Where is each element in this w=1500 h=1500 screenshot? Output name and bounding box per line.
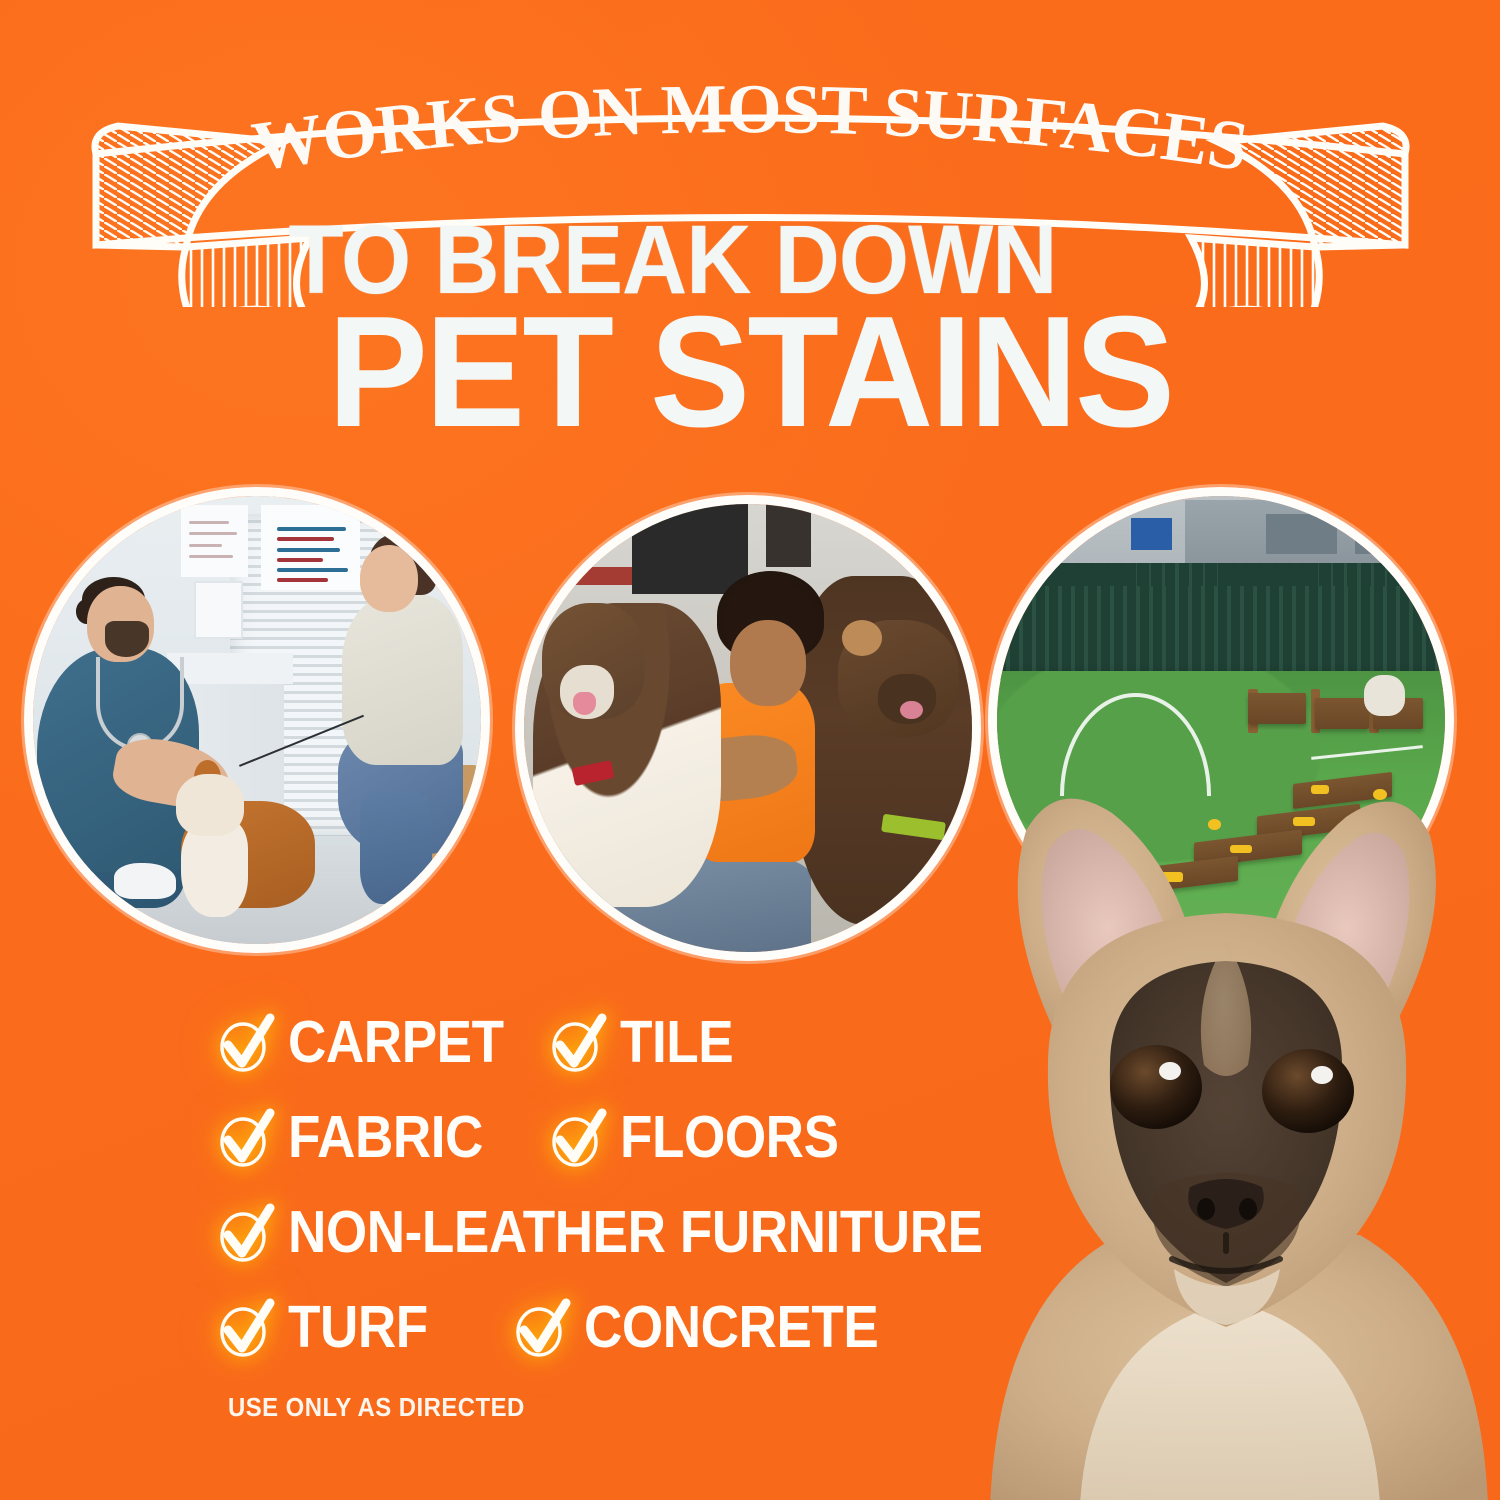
- check-mark-icon: [216, 1299, 274, 1357]
- check-mark-icon: [216, 1204, 274, 1262]
- checklist-label: TURF: [288, 1298, 428, 1357]
- checklist-item-carpet: CARPET: [216, 1013, 548, 1072]
- headline-line3: PET STAINS: [38, 300, 1463, 445]
- banner-line1-text: WORKS ON MOST SURFACES: [247, 70, 1253, 186]
- photo-vet-clinic-corgi: [24, 487, 490, 953]
- checklist-item-non-leather-furniture: NON-LEATHER FURNITURE: [216, 1203, 1060, 1262]
- hero-french-bulldog-puppy: [960, 735, 1500, 1500]
- photo-boy-with-two-doodles: [515, 495, 981, 961]
- checklist-label: FABRIC: [288, 1108, 483, 1167]
- checklist-label: NON-LEATHER FURNITURE: [288, 1203, 983, 1262]
- usage-disclaimer: USE ONLY AS DIRECTED: [228, 1392, 525, 1423]
- check-mark-icon: [216, 1014, 274, 1072]
- check-mark-icon: [512, 1299, 570, 1357]
- svg-text:WORKS ON MOST SURFACES: WORKS ON MOST SURFACES: [247, 70, 1253, 186]
- checklist-item-tile: TILE: [548, 1013, 746, 1072]
- checklist-item-concrete: CONCRETE: [512, 1298, 911, 1357]
- checklist-item-floors: FLOORS: [548, 1108, 863, 1167]
- checklist-item-turf: TURF: [216, 1298, 512, 1357]
- checklist-item-fabric: FABRIC: [216, 1108, 548, 1167]
- checklist-label: FLOORS: [620, 1108, 839, 1167]
- check-mark-icon: [548, 1109, 606, 1167]
- checklist-label: CARPET: [288, 1013, 504, 1072]
- promo-image-canvas: WORKS ON MOST SURFACES TO BREAK DOWN PET…: [0, 0, 1500, 1500]
- banner-line1: WORKS ON MOST SURFACES: [78, 62, 1423, 182]
- checklist-label: TILE: [620, 1013, 733, 1072]
- check-mark-icon: [216, 1109, 274, 1167]
- check-mark-icon: [548, 1014, 606, 1072]
- checklist-label: CONCRETE: [584, 1298, 878, 1357]
